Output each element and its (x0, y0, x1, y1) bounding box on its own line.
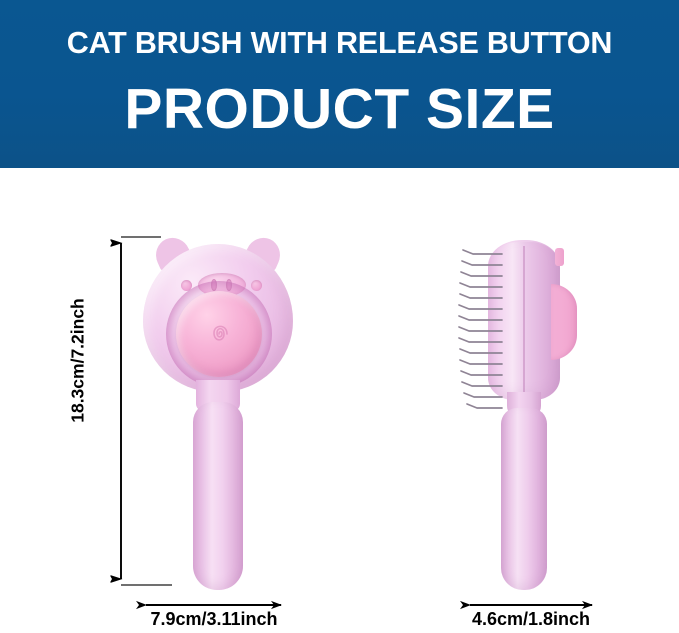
product-front-view (138, 232, 298, 587)
bristle-pins-icon (445, 248, 505, 428)
brush-handle-side (501, 408, 547, 590)
side-width-dimension-label: 4.6cm/1.8inch (440, 609, 622, 630)
face-eye-right-icon (251, 280, 262, 291)
front-width-dimension-label: 7.9cm/3.11inch (122, 609, 306, 630)
spiral-icon (196, 311, 242, 357)
release-button-side[interactable] (551, 284, 577, 360)
height-dimension-label: 18.3cm/7.2inch (68, 291, 89, 431)
header-banner: CAT BRUSH WITH RELEASE BUTTON PRODUCT SI… (0, 0, 679, 168)
brush-handle-front (193, 402, 243, 590)
page-title: PRODUCT SIZE (0, 78, 679, 140)
release-button[interactable] (176, 291, 262, 377)
product-size-infographic: CAT BRUSH WITH RELEASE BUTTON PRODUCT SI… (0, 0, 679, 633)
banner-headline: CAT BRUSH WITH RELEASE BUTTON (0, 26, 679, 61)
product-side-view (455, 232, 595, 587)
release-button-tab-side[interactable] (555, 248, 564, 266)
